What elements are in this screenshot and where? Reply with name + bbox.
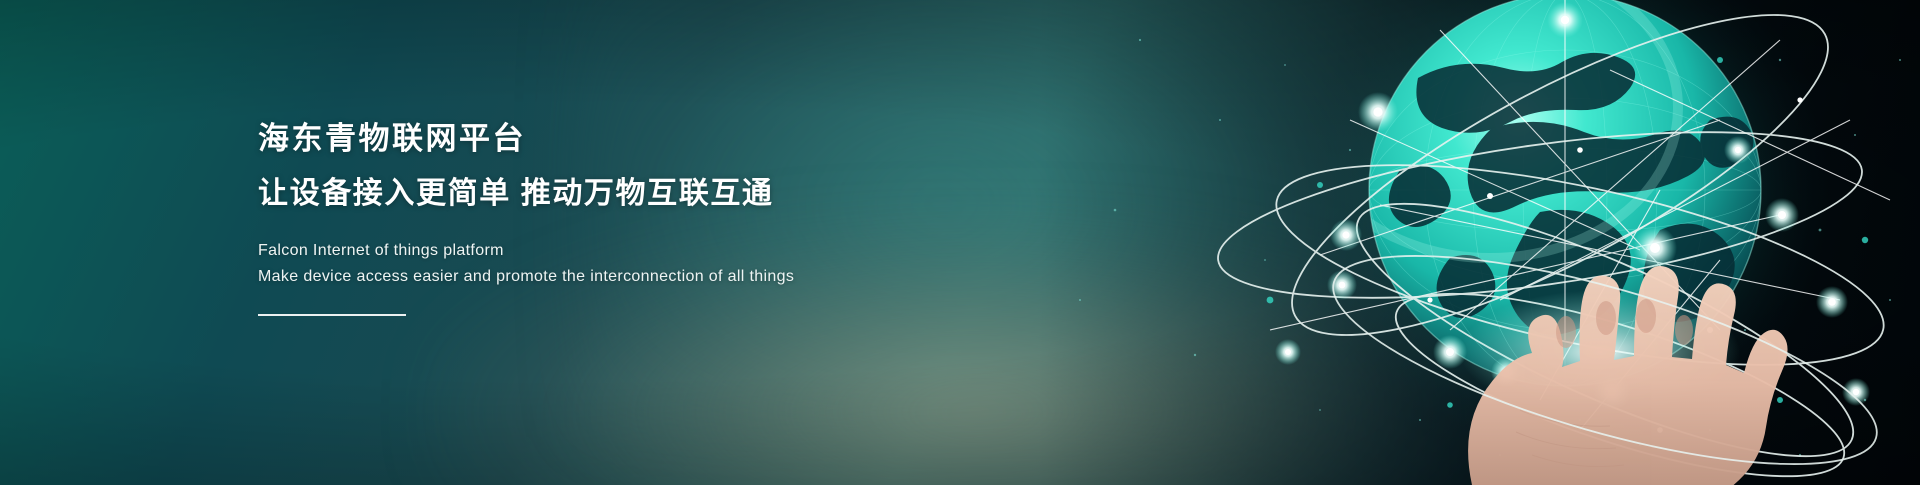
banner-title-en: Falcon Internet of things platform bbox=[258, 238, 1158, 264]
banner-subtitle-zh: 让设备接入更简单 推动万物互联互通 bbox=[258, 176, 1158, 213]
banner-divider bbox=[258, 314, 406, 316]
foreground-node-core bbox=[1446, 348, 1454, 356]
banner-copy: 海东青物联网平台 让设备接入更简单 推动万物互联互通 Falcon Intern… bbox=[258, 120, 1158, 316]
hero-banner: 海东青物联网平台 让设备接入更简单 推动万物互联互通 Falcon Intern… bbox=[0, 0, 1920, 485]
banner-title-zh: 海东青物联网平台 bbox=[258, 120, 1158, 158]
banner-subtitle-en: Make device access easier and promote th… bbox=[258, 264, 1158, 290]
